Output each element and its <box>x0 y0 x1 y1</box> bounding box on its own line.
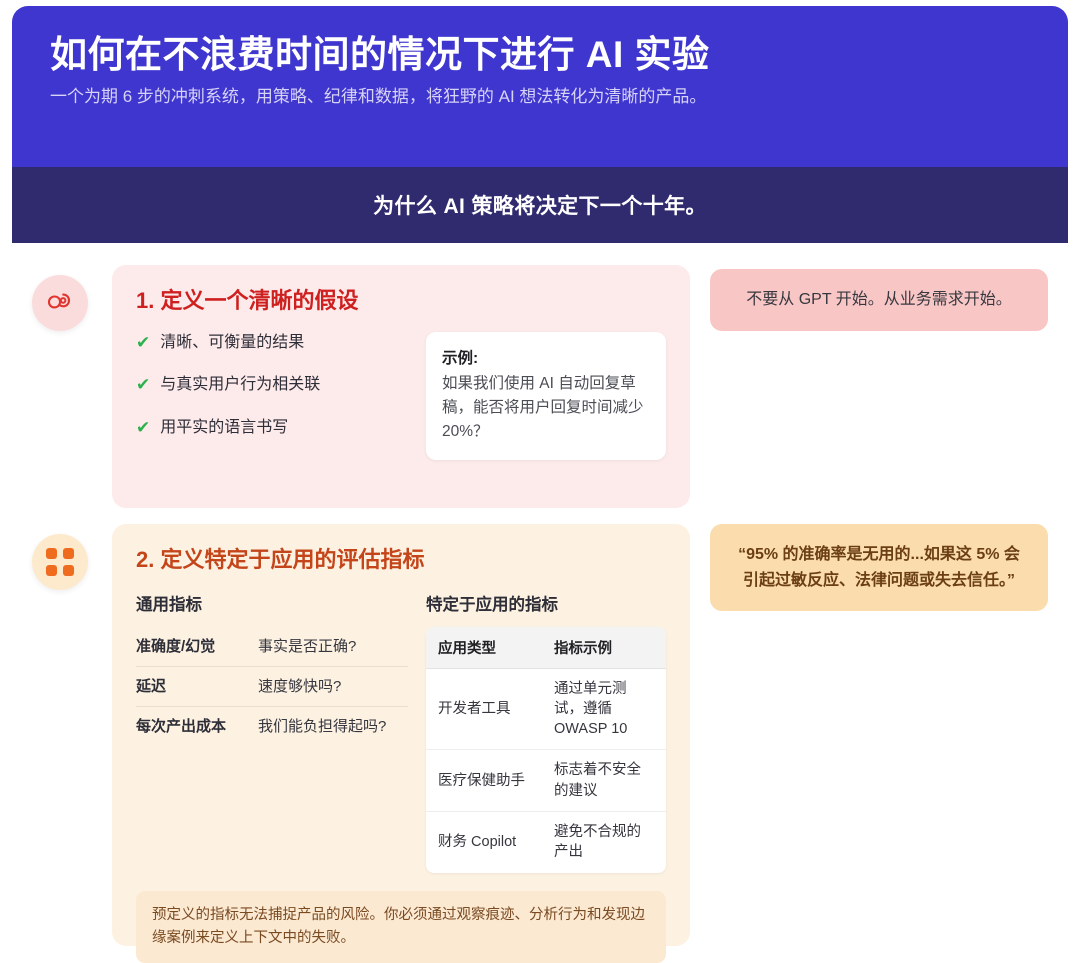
metric-question: 速度够快吗? <box>258 666 408 706</box>
infographic-page: 如何在不浪费时间的情况下进行 AI 实验 一个为期 6 步的冲刺系统，用策略、纪… <box>0 0 1080 962</box>
page-subtitle: 一个为期 6 步的冲刺系统，用策略、纪律和数据，将狂野的 AI 想法转化为清晰的… <box>50 84 1030 110</box>
grid-squares-icon <box>32 534 88 590</box>
table-row: 延迟 速度够快吗? <box>136 666 408 706</box>
table-row: 医疗保健助手 标志着不安全的建议 <box>426 750 666 812</box>
app-specific-table: 应用类型 指标示例 开发者工具 通过单元测试，遵循 OWASP 10 <box>426 627 666 873</box>
generic-metrics-heading: 通用指标 <box>136 591 408 615</box>
step-2-card: 2. 定义特定于应用的评估指标 通用指标 准确度/幻觉 事实是否正确? <box>112 524 690 946</box>
cell-app-type: 财务 Copilot <box>426 812 542 873</box>
cell-metric-example: 避免不合规的产出 <box>542 812 666 873</box>
metric-question: 事实是否正确? <box>258 627 408 667</box>
callout-accuracy-quote: “95% 的准确率是无用的...如果这 5% 会引起过敏反应、法律问题或失去信任… <box>710 524 1048 611</box>
table-row: 财务 Copilot 避免不合规的产出 <box>426 812 666 873</box>
cloud-target-icon <box>32 275 88 331</box>
step-1-card: 1. 定义一个清晰的假设 ✔ 清晰、可衡量的结果 ✔ 与真实用户行为相关联 ✔ <box>112 265 690 508</box>
check-icon: ✔ <box>136 417 150 438</box>
app-specific-metrics-column: 特定于应用的指标 应用类型 指标示例 开发者工具 <box>426 591 666 873</box>
step-1-checklist: ✔ 清晰、可衡量的结果 ✔ 与真实用户行为相关联 ✔ 用平实的语言书写 <box>136 332 404 439</box>
column-header-app-type: 应用类型 <box>426 627 542 669</box>
app-specific-heading: 特定于应用的指标 <box>426 591 666 615</box>
metric-question: 我们能负担得起吗? <box>258 706 408 746</box>
metric-name: 准确度/幻觉 <box>136 627 258 667</box>
callout-text: “95% 的准确率是无用的...如果这 5% 会引起过敏反应、法律问题或失去信任… <box>738 546 1020 589</box>
cell-app-type: 医疗保健助手 <box>426 750 542 812</box>
list-item: ✔ 与真实用户行为相关联 <box>136 374 404 396</box>
generic-metrics-table: 准确度/幻觉 事实是否正确? 延迟 速度够快吗? 每次产出成本 我们能负担得起吗… <box>136 627 408 746</box>
page-title: 如何在不浪费时间的情况下进行 AI 实验 <box>50 32 1030 78</box>
metric-name: 每次产出成本 <box>136 706 258 746</box>
cell-app-type: 开发者工具 <box>426 668 542 750</box>
callout-do-not-start-with-gpt: 不要从 GPT 开始。从业务需求开始。 <box>710 269 1048 331</box>
metric-name: 延迟 <box>136 666 258 706</box>
example-box: 示例: 如果我们使用 AI 自动回复草稿，能否将用户回复时间减少 20%？ <box>426 332 666 460</box>
sub-banner-text: 为什么 AI 策略将决定下一个十年。 <box>373 190 707 220</box>
step-2-note: 预定义的指标无法捕捉产品的风险。你必须通过观察痕迹、分析行为和发现边缘案例来定义… <box>136 891 666 963</box>
step-1-title: 1. 定义一个清晰的假设 <box>136 287 666 316</box>
example-text: 如果我们使用 AI 自动回复草稿，能否将用户回复时间减少 20%？ <box>442 372 650 444</box>
table-header-row: 应用类型 指标示例 <box>426 627 666 669</box>
table-row: 开发者工具 通过单元测试，遵循 OWASP 10 <box>426 668 666 750</box>
checklist-label: 与真实用户行为相关联 <box>160 374 320 396</box>
checklist-label: 用平实的语言书写 <box>160 417 288 439</box>
generic-metrics-column: 通用指标 准确度/幻觉 事实是否正确? 延迟 速度够快吗? <box>136 591 408 746</box>
list-item: ✔ 用平实的语言书写 <box>136 417 404 439</box>
cell-metric-example: 标志着不安全的建议 <box>542 750 666 812</box>
cell-metric-example: 通过单元测试，遵循 OWASP 10 <box>542 668 666 750</box>
content-area: 1. 定义一个清晰的假设 ✔ 清晰、可衡量的结果 ✔ 与真实用户行为相关联 ✔ <box>0 243 1080 962</box>
column-header-metric-example: 指标示例 <box>542 627 666 669</box>
example-label: 示例: <box>442 346 650 368</box>
checklist-label: 清晰、可衡量的结果 <box>160 332 304 354</box>
callout-text: 不要从 GPT 开始。从业务需求开始。 <box>746 291 1012 308</box>
check-icon: ✔ <box>136 332 150 353</box>
grid-squares-glyph <box>46 548 74 576</box>
hero-header: 如何在不浪费时间的情况下进行 AI 实验 一个为期 6 步的冲刺系统，用策略、纪… <box>12 6 1068 167</box>
list-item: ✔ 清晰、可衡量的结果 <box>136 332 404 354</box>
table-row: 准确度/幻觉 事实是否正确? <box>136 627 408 667</box>
step-2-title: 2. 定义特定于应用的评估指标 <box>136 546 666 575</box>
table-row: 每次产出成本 我们能负担得起吗? <box>136 706 408 746</box>
check-icon: ✔ <box>136 374 150 395</box>
sub-banner: 为什么 AI 策略将决定下一个十年。 <box>12 167 1068 243</box>
